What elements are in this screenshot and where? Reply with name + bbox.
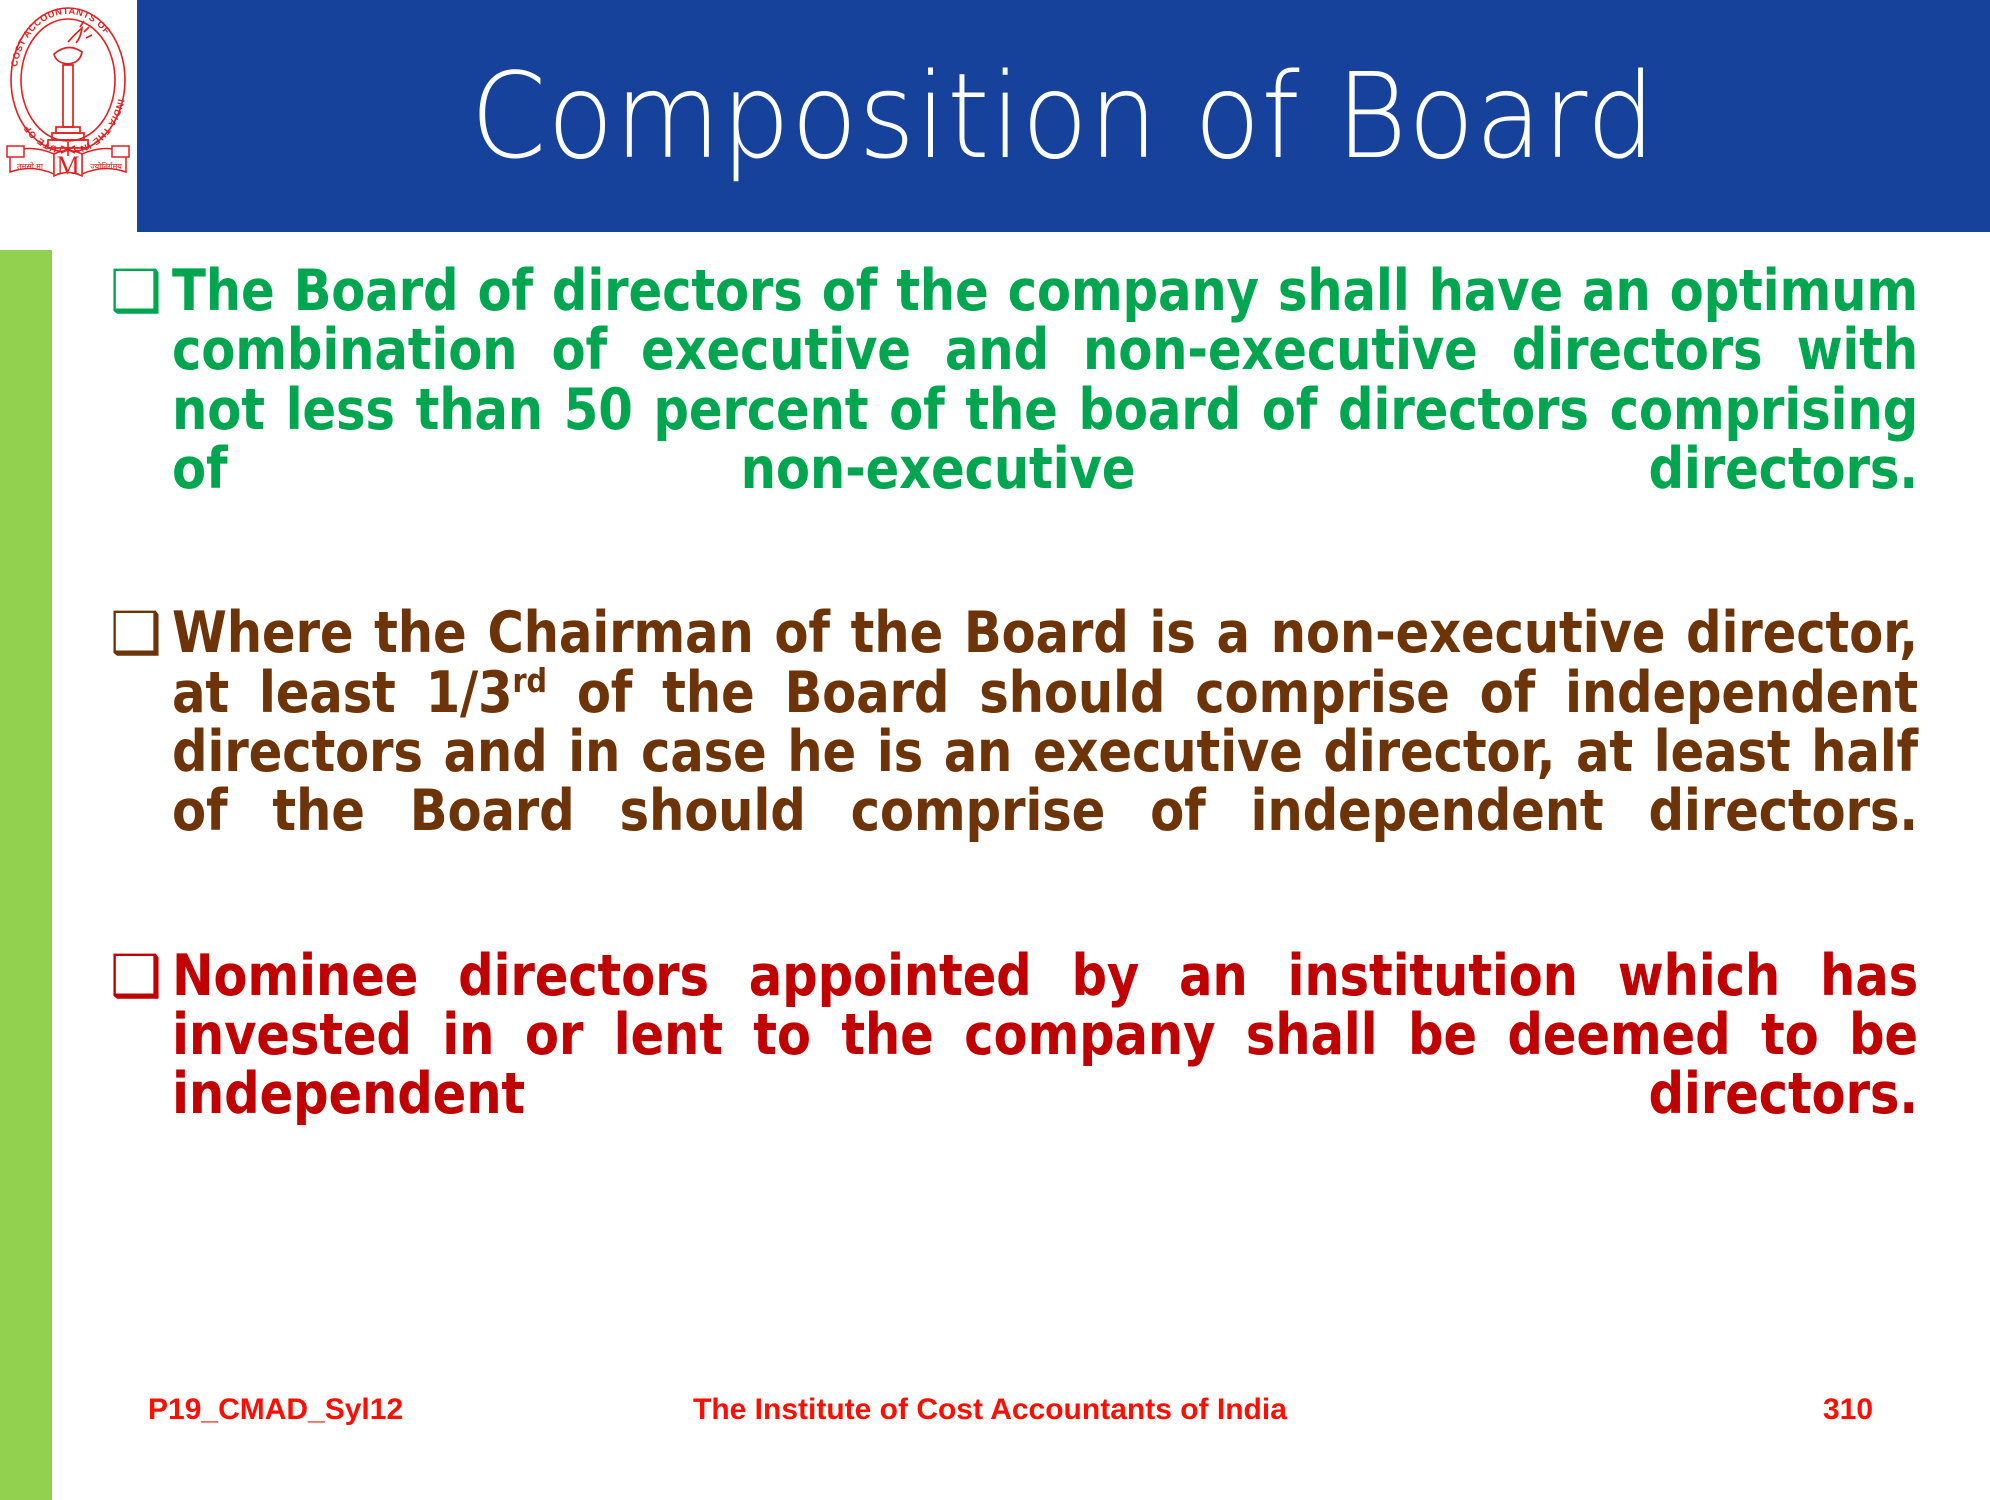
footer-page-number: 310 <box>1823 1393 1873 1427</box>
bullet-square-icon: ❑ <box>110 604 172 663</box>
bullet-board-composition: ❑ The Board of directors of the company … <box>110 262 1972 558</box>
institute-logo: COST ACCOUNTANTS OF INDIA THE INSTITUTE … <box>4 2 132 184</box>
footer-institute-name: The Institute of Cost Accountants of Ind… <box>693 1393 1287 1427</box>
page-title: Composition of Board <box>471 57 1657 175</box>
slide-header: Composition of Board <box>137 0 1990 232</box>
bullet-text-board-composition: The Board of directors of the company sh… <box>172 262 1918 558</box>
svg-text:M: M <box>56 151 79 180</box>
left-accent-band <box>0 250 52 1500</box>
bullet-square-icon: ❑ <box>110 947 172 1006</box>
bullet-text-nominee-directors: Nominee directors appointed by an instit… <box>172 947 1918 1184</box>
bullet-square-icon: ❑ <box>110 262 172 321</box>
slide-body: ❑ The Board of directors of the company … <box>110 262 1972 1230</box>
bullet-text-chairman-independent: Where the Chairman of the Board is a non… <box>172 604 1918 900</box>
footer-course-code: P19_CMAD_Syl12 <box>148 1393 403 1427</box>
bullet-nominee-directors: ❑ Nominee directors appointed by an inst… <box>110 947 1972 1184</box>
svg-text:ज्योतिर्गमय: ज्योतिर्गमय <box>90 161 122 171</box>
slide-footer: P19_CMAD_Syl12 The Institute of Cost Acc… <box>0 1393 1990 1439</box>
ordinal-suffix: rd <box>512 661 546 700</box>
bullet-chairman-independent: ❑ Where the Chairman of the Board is a n… <box>110 604 1972 900</box>
svg-text:तमसो मा: तमसो मा <box>17 161 44 171</box>
